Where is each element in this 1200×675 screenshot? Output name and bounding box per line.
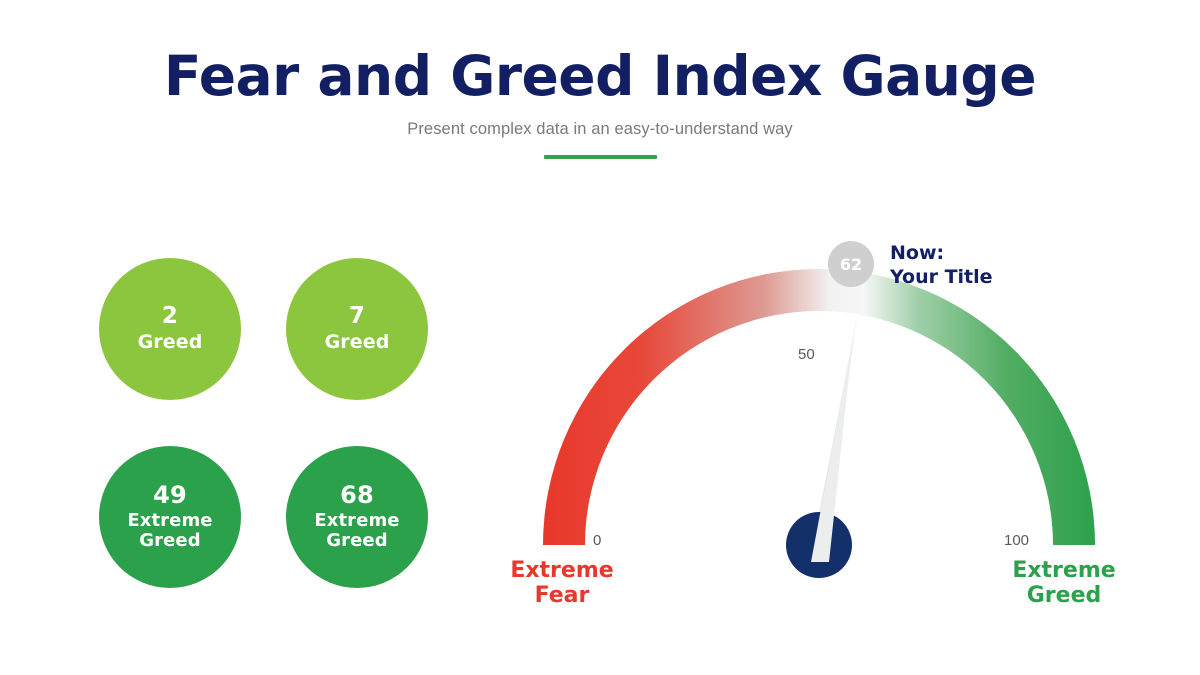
bubble-label: Extreme Greed	[314, 511, 399, 551]
index-bubble-group: 2 Greed 7 Greed 49 Extreme Greed 68 Extr…	[99, 258, 459, 598]
index-bubble[interactable]: 49 Extreme Greed	[99, 446, 241, 588]
bubble-value: 2	[162, 304, 178, 330]
gauge-current-value-title: Now: Your Title	[890, 241, 993, 289]
gauge-tick-min: 0	[593, 532, 601, 549]
index-bubble[interactable]: 7 Greed	[286, 258, 428, 400]
bubble-value: 68	[340, 482, 374, 509]
bubble-value: 7	[349, 304, 365, 330]
index-bubble[interactable]: 2 Greed	[99, 258, 241, 400]
accent-divider	[544, 155, 657, 159]
gauge-needle-group	[786, 310, 858, 578]
gauge-needle[interactable]	[813, 310, 858, 546]
gauge-current-value-badge[interactable]: 62	[828, 241, 874, 287]
page-title: Fear and Greed Index Gauge	[0, 48, 1200, 106]
bubble-value: 49	[153, 482, 187, 509]
gauge-tick-mid: 50	[798, 346, 815, 363]
bubble-label: Extreme Greed	[127, 511, 212, 551]
slide-canvas: Fear and Greed Index Gauge Present compl…	[0, 0, 1200, 675]
bubble-label: Greed	[138, 332, 203, 353]
gauge-label-extreme-greed: Extreme Greed	[980, 558, 1148, 609]
gauge-arc-band	[543, 269, 1095, 545]
gauge-tick-max: 100	[1004, 532, 1029, 549]
gauge-label-extreme-fear: Extreme Fear	[488, 558, 636, 609]
page-subtitle: Present complex data in an easy-to-under…	[0, 120, 1200, 139]
bubble-label: Greed	[325, 332, 390, 353]
index-bubble[interactable]: 68 Extreme Greed	[286, 446, 428, 588]
header: Fear and Greed Index Gauge Present compl…	[0, 48, 1200, 159]
gauge-chart: 0 50 100 Extreme Fear Extreme Greed 62 N…	[480, 210, 1180, 640]
